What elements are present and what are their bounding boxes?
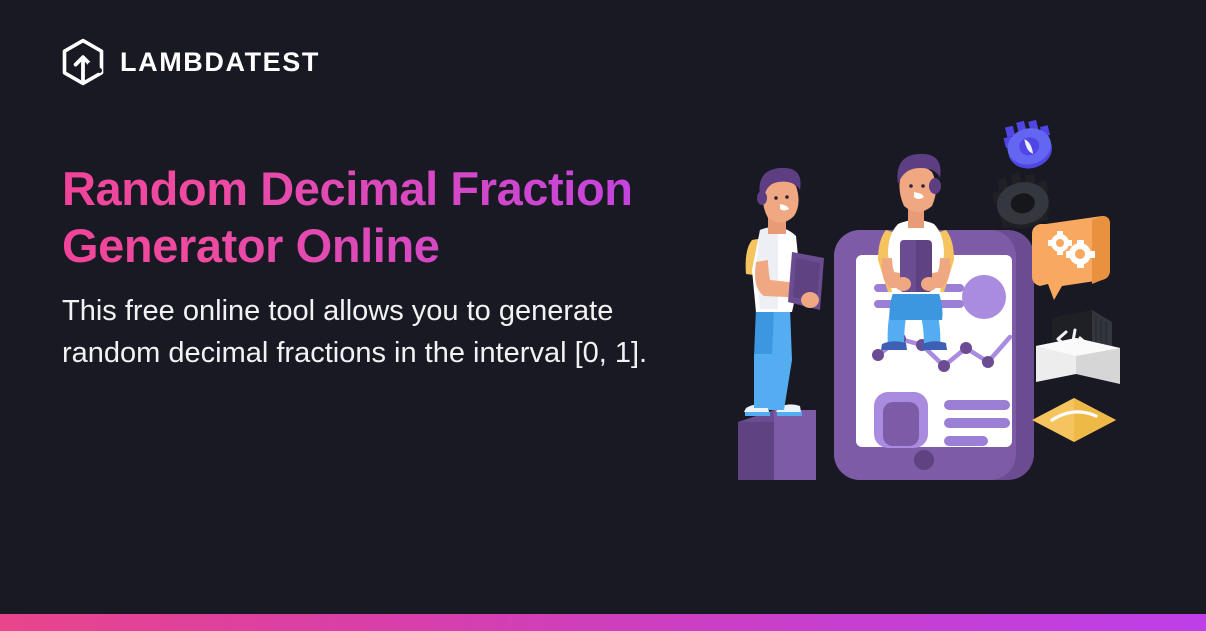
yellow-diamond-icon [1032, 398, 1116, 442]
person-standing-with-tablet [744, 168, 824, 416]
page-description: This free online tool allows you to gene… [62, 290, 672, 374]
pedestal-shape [738, 410, 816, 480]
dark-gear-icon [990, 168, 1054, 233]
page-title: Random Decimal Fraction Generator Online [62, 160, 702, 275]
gradient-accent-bar [0, 614, 1206, 631]
hero-illustration [716, 112, 1136, 502]
hero-banner: LAMBDATEST Random Decimal Fraction Gener… [0, 0, 1206, 631]
brand-logo[interactable]: LAMBDATEST [60, 38, 320, 86]
brand-name: LAMBDATEST [120, 49, 320, 76]
lambdatest-hexagon-arrow-icon [60, 38, 106, 86]
code-cards-box-icon [1036, 310, 1120, 384]
orange-speech-bubble-gears-icon [1032, 216, 1110, 300]
blue-gear-icon [1001, 116, 1057, 174]
